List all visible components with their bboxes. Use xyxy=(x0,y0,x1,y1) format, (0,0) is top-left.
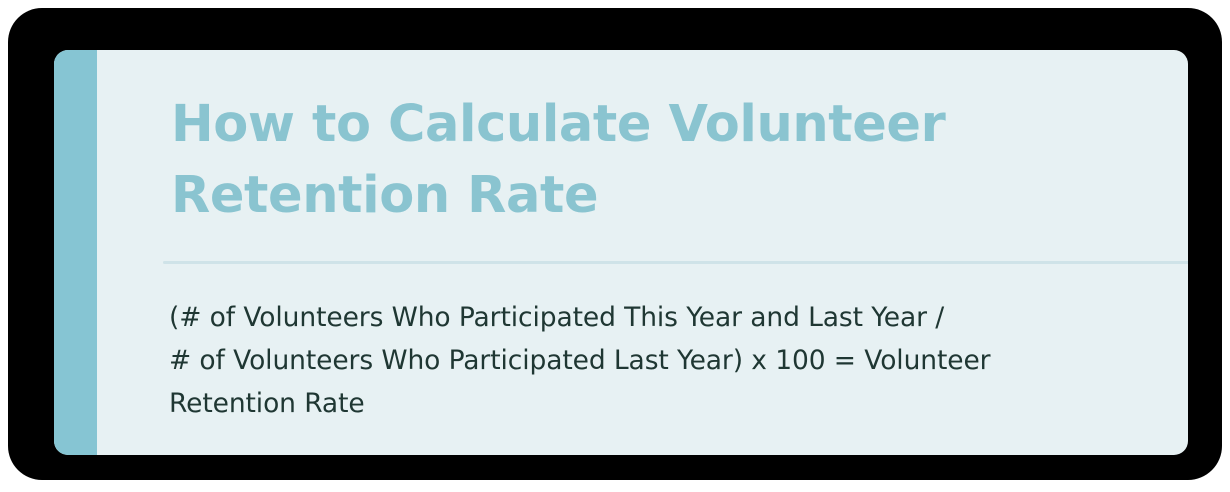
outer-frame: How to Calculate Volunteer Retention Rat… xyxy=(8,8,1222,480)
screenshot-stage: How to Calculate Volunteer Retention Rat… xyxy=(0,0,1230,492)
retention-rate-formula: (# of Volunteers Who Participated This Y… xyxy=(169,296,1179,425)
card-content: How to Calculate Volunteer Retention Rat… xyxy=(97,50,1188,455)
formula-card: How to Calculate Volunteer Retention Rat… xyxy=(54,50,1188,455)
card-accent-bar xyxy=(54,50,97,455)
card-divider xyxy=(163,261,1188,264)
card-title: How to Calculate Volunteer Retention Rat… xyxy=(171,89,1071,231)
